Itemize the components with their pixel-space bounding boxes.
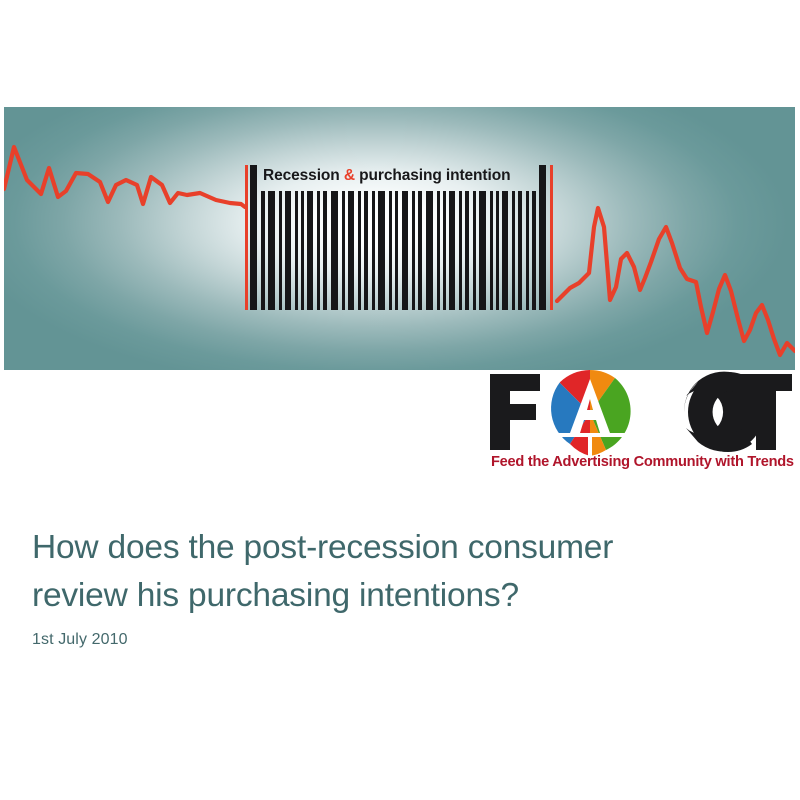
barcode-graphic: Recession & purchasing intention (245, 165, 557, 310)
barcode-bars-graphic (245, 165, 557, 310)
logo-letter-f (490, 374, 540, 450)
publication-date: 1st July 2010 (32, 629, 128, 651)
hero-banner-inner: Recession & purchasing intention (4, 107, 795, 370)
page-title: How does the post-recession consumer rev… (32, 524, 762, 620)
logo-letter-a-colorwheel (550, 370, 631, 456)
fact-wordmark-graphic (488, 368, 794, 456)
fact-logo: Feed the Advertising Community with Tren… (488, 368, 794, 478)
page-title-line-2: review his purchasing intentions? (32, 572, 762, 620)
page-title-line-1: How does the post-recession consumer (32, 529, 613, 566)
logo-tagline: Feed the Advertising Community with Tren… (491, 454, 794, 470)
hero-banner-image: Recession & purchasing intention (4, 107, 795, 370)
